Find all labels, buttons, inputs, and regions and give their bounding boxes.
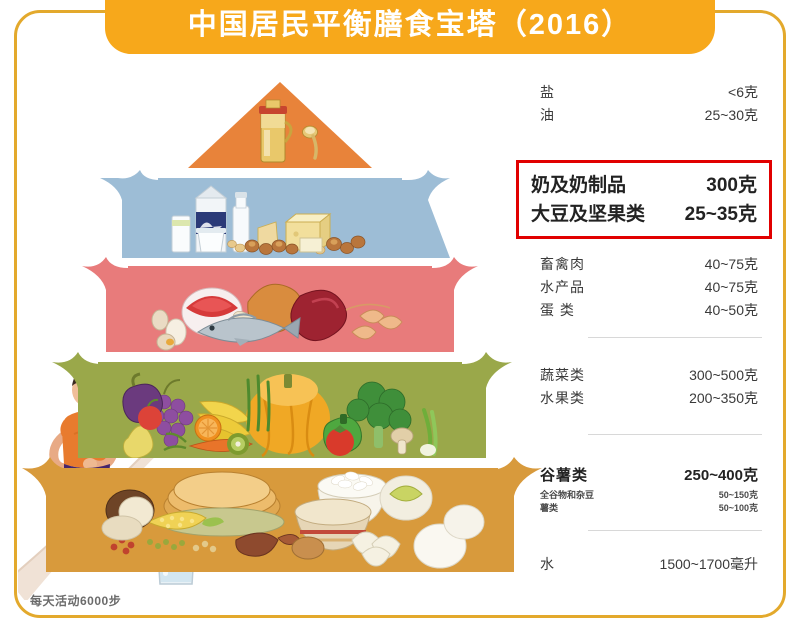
nutrition-info-column: 盐 <6克 油 25~30克 奶及奶制品 300克 大豆及坚果类 25~35克 …: [540, 82, 772, 602]
page-title: 中国居民平衡膳食宝塔（2016）: [188, 11, 633, 40]
info-value-oil: 25~30克: [636, 105, 772, 125]
info-value-dairy: 300克: [657, 170, 769, 197]
info-row-salt: 盐 <6克: [540, 82, 772, 102]
info-value-soy-nuts: 25~35克: [657, 199, 769, 226]
info-label-water: 水: [540, 554, 636, 574]
info-value-aquatic: 40~75克: [636, 277, 772, 297]
daily-steps-label: 每天活动6000步: [30, 592, 121, 609]
highlight-box-dairy-soy: 奶及奶制品 300克 大豆及坚果类 25~35克: [516, 160, 772, 239]
info-group-produce: 蔬菜类 300~500克 水果类 200~350克: [540, 365, 772, 411]
info-row-dairy: 奶及奶制品 300克: [519, 170, 769, 197]
tier-meat: [82, 257, 478, 352]
info-group-protein: 畜禽肉 40~75克 水产品 40~75克 蛋 类 40~50克: [540, 254, 772, 323]
info-value-water: 1500~1700毫升: [636, 554, 772, 574]
poster-title-bar: 中国居民平衡膳食宝塔（2016）: [105, 0, 715, 54]
info-value-tubers: 50~100克: [636, 501, 772, 514]
info-value-salt: <6克: [636, 82, 772, 102]
info-label-oil: 油: [540, 105, 636, 125]
divider-after-grain: [588, 530, 762, 531]
info-value-fruits: 200~350克: [636, 388, 772, 408]
info-label-aquatic: 水产品: [540, 277, 636, 297]
info-row-aquatic: 水产品 40~75克: [540, 277, 772, 297]
tier-dairy: [100, 170, 450, 258]
info-label-dairy: 奶及奶制品: [519, 170, 657, 197]
info-row-fruits: 水果类 200~350克: [540, 388, 772, 408]
poster-canvas: 每天活动6000步 盐 <6克 油 25~30克 奶及奶制品 300克 大豆及坚…: [0, 0, 800, 630]
info-row-eggs: 蛋 类 40~50克: [540, 300, 772, 320]
divider-after-produce: [588, 434, 762, 435]
info-row-vegetables: 蔬菜类 300~500克: [540, 365, 772, 385]
info-row-livestock-poultry: 畜禽肉 40~75克: [540, 254, 772, 274]
info-row-grain-main: 谷薯类 250~400克: [540, 464, 772, 485]
tier-oil-salt: [188, 82, 372, 168]
info-label-grain: 谷薯类: [540, 464, 636, 485]
tier-grain: [22, 457, 542, 572]
info-group-water: 水 1500~1700毫升: [540, 554, 772, 577]
info-row-wholegrain: 全谷物和杂豆 50~150克: [540, 488, 772, 501]
info-label-livestock-poultry: 畜禽肉: [540, 254, 636, 274]
info-label-tubers: 薯类: [540, 501, 636, 514]
info-row-water: 水 1500~1700毫升: [540, 554, 772, 574]
info-value-eggs: 40~50克: [636, 300, 772, 320]
info-label-soy-nuts: 大豆及坚果类: [519, 199, 657, 226]
info-value-livestock-poultry: 40~75克: [636, 254, 772, 274]
info-label-salt: 盐: [540, 82, 636, 102]
food-pyramid-illustration: [0, 70, 560, 610]
info-value-wholegrain: 50~150克: [636, 488, 772, 501]
info-label-wholegrain: 全谷物和杂豆: [540, 488, 636, 501]
info-value-grain: 250~400克: [636, 464, 772, 485]
info-label-vegetables: 蔬菜类: [540, 365, 636, 385]
info-row-oil: 油 25~30克: [540, 105, 772, 125]
info-group-grain: 谷薯类 250~400克 全谷物和杂豆 50~150克 薯类 50~100克: [540, 464, 772, 514]
tier-vegetable: [52, 352, 512, 458]
info-label-eggs: 蛋 类: [540, 300, 636, 320]
info-value-vegetables: 300~500克: [636, 365, 772, 385]
divider-after-protein: [588, 337, 762, 338]
info-label-fruits: 水果类: [540, 388, 636, 408]
info-row-soy-nuts: 大豆及坚果类 25~35克: [519, 199, 769, 226]
info-group-oil-salt: 盐 <6克 油 25~30克: [540, 82, 772, 128]
info-row-tubers: 薯类 50~100克: [540, 501, 772, 514]
